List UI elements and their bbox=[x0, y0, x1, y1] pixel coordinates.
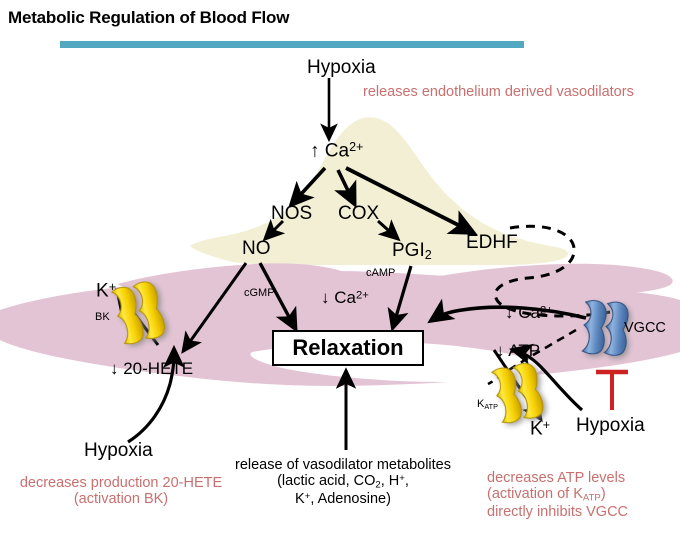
label-potassium-right: K+ bbox=[530, 418, 550, 440]
label-bk-channel: BK bbox=[95, 311, 110, 323]
node-pgi2: PGI2 bbox=[392, 240, 432, 262]
page-title: Metabolic Regulation of Blood Flow bbox=[8, 8, 289, 27]
node-atp-decrease: ↓ ATP bbox=[496, 341, 540, 360]
relaxation-box: Relaxation bbox=[272, 330, 424, 366]
node-cox: COX bbox=[338, 203, 379, 224]
node-calcium-decrease-right: ↓ Ca2+ bbox=[505, 303, 553, 322]
label-camp: cAMP bbox=[366, 267, 395, 279]
caption-center-line3: K+, Adenosine) bbox=[198, 491, 488, 507]
node-hypoxia-top: Hypoxia bbox=[307, 57, 376, 78]
label-potassium-left: K+ bbox=[96, 280, 116, 302]
node-nos: NOS bbox=[271, 203, 312, 224]
diagram-canvas: Metabolic Regulation of Blood Flow Hypox… bbox=[0, 0, 680, 533]
caption-right-line2: (activation of KATP) bbox=[487, 486, 628, 504]
node-calcium-decrease-center: ↓ Ca2+ bbox=[321, 288, 369, 307]
label-cgmp: cGMP bbox=[244, 287, 275, 299]
caption-center-line2: (lactic acid, CO2, H+, bbox=[198, 473, 488, 491]
label-vgcc-channel: VGCC bbox=[624, 320, 666, 336]
annotation-endothelium-note: releases endothelium derived vasodilator… bbox=[363, 84, 634, 100]
caption-right-line3: directly inhibits VGCC bbox=[487, 504, 628, 520]
caption-right: decreases ATP levels (activation of KATP… bbox=[487, 470, 628, 521]
caption-right-line1: decreases ATP levels bbox=[487, 470, 628, 486]
node-hypoxia-right: Hypoxia bbox=[576, 415, 645, 436]
node-calcium-increase: ↑ Ca2+ bbox=[310, 140, 363, 162]
caption-center-line1: release of vasodilator metabolites bbox=[198, 457, 488, 473]
node-no: NO bbox=[242, 238, 271, 259]
node-20-hete-decrease: ↓ 20-HETE bbox=[110, 359, 193, 378]
label-katp-channel: KATP bbox=[477, 398, 498, 411]
node-hypoxia-left: Hypoxia bbox=[84, 440, 153, 461]
relaxation-label: Relaxation bbox=[274, 332, 422, 363]
node-edhf: EDHF bbox=[466, 232, 518, 253]
inhibition-bar-icon bbox=[596, 372, 628, 410]
caption-center: release of vasodilator metabolites (lact… bbox=[198, 457, 488, 508]
title-accent-bar bbox=[60, 41, 524, 48]
